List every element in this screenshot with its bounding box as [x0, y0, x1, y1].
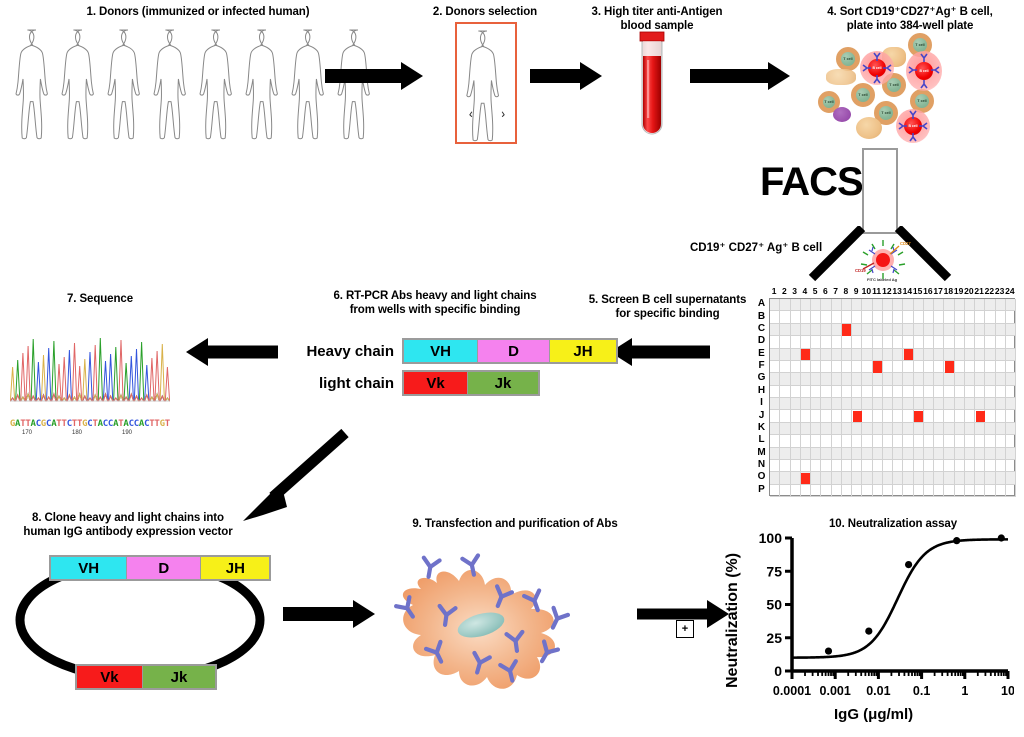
plate-well[interactable] — [934, 410, 944, 422]
plate-well[interactable] — [975, 448, 985, 460]
plate-well[interactable] — [883, 349, 893, 361]
plate-well[interactable] — [924, 423, 934, 435]
plate-well[interactable] — [924, 373, 934, 385]
plate-well[interactable] — [944, 460, 954, 472]
plate-well[interactable] — [1006, 423, 1016, 435]
plate-well[interactable] — [842, 460, 852, 472]
plate-well[interactable] — [975, 472, 985, 484]
plate-well[interactable] — [955, 373, 965, 385]
plate-well[interactable] — [873, 472, 883, 484]
plate-well[interactable] — [965, 373, 975, 385]
plate-well[interactable] — [944, 398, 954, 410]
plate-well[interactable] — [965, 435, 975, 447]
plate-well[interactable] — [821, 423, 831, 435]
plate-well[interactable] — [914, 336, 924, 348]
plate-well[interactable] — [1006, 410, 1016, 422]
plate-well[interactable] — [996, 336, 1006, 348]
plate-well[interactable] — [862, 386, 872, 398]
plate-well[interactable] — [832, 299, 842, 311]
plate-well[interactable] — [883, 336, 893, 348]
plate-well[interactable] — [1006, 460, 1016, 472]
plate-well[interactable] — [832, 423, 842, 435]
plate-well[interactable] — [903, 373, 913, 385]
plate-well[interactable] — [862, 472, 872, 484]
plate-well[interactable] — [770, 349, 780, 361]
plate-well[interactable] — [873, 460, 883, 472]
plate-well[interactable] — [791, 448, 801, 460]
plate-well[interactable] — [944, 299, 954, 311]
plate-well[interactable] — [780, 472, 790, 484]
plate-well[interactable] — [801, 423, 811, 435]
plate-well[interactable] — [821, 448, 831, 460]
plate-well[interactable] — [903, 311, 913, 323]
plate-well[interactable] — [924, 361, 934, 373]
plate-well[interactable] — [801, 373, 811, 385]
plate-well[interactable] — [944, 435, 954, 447]
plate-well[interactable] — [842, 448, 852, 460]
plate-well[interactable] — [975, 361, 985, 373]
plate-well[interactable] — [821, 435, 831, 447]
plate-well[interactable] — [985, 336, 995, 348]
plate-well[interactable] — [770, 460, 780, 472]
plate-well[interactable] — [862, 460, 872, 472]
plate-well[interactable] — [914, 349, 924, 361]
plate-well[interactable] — [965, 398, 975, 410]
plate-well[interactable] — [944, 311, 954, 323]
plate-well[interactable] — [955, 299, 965, 311]
plate-well[interactable] — [1006, 472, 1016, 484]
plate-well[interactable] — [832, 448, 842, 460]
plate-well[interactable] — [780, 460, 790, 472]
plate-well[interactable] — [811, 311, 821, 323]
plate-well[interactable] — [821, 299, 831, 311]
plate-well[interactable] — [924, 410, 934, 422]
plate-well[interactable] — [811, 373, 821, 385]
plate-well[interactable] — [985, 373, 995, 385]
plate-well[interactable] — [934, 460, 944, 472]
plate-well[interactable] — [1006, 398, 1016, 410]
plate-well[interactable] — [832, 386, 842, 398]
plate-well[interactable] — [842, 386, 852, 398]
plate-well[interactable] — [842, 410, 852, 422]
plate-well[interactable] — [862, 485, 872, 497]
plate-well[interactable] — [934, 299, 944, 311]
plate-well[interactable] — [955, 448, 965, 460]
plate-well[interactable] — [965, 423, 975, 435]
plate-well[interactable] — [965, 472, 975, 484]
plate-well[interactable] — [934, 485, 944, 497]
plate-well[interactable] — [770, 448, 780, 460]
plate-well[interactable] — [934, 472, 944, 484]
plate-well[interactable] — [791, 472, 801, 484]
plate-well[interactable] — [893, 410, 903, 422]
plate-well[interactable] — [821, 472, 831, 484]
plate-well[interactable] — [780, 448, 790, 460]
plate-well[interactable] — [944, 423, 954, 435]
plate-well[interactable] — [965, 361, 975, 373]
plate-well[interactable] — [852, 435, 862, 447]
plate-well[interactable] — [996, 448, 1006, 460]
plate-well[interactable] — [1006, 361, 1016, 373]
plate-well[interactable] — [873, 349, 883, 361]
plate-well[interactable] — [975, 336, 985, 348]
plate-well[interactable] — [791, 349, 801, 361]
plate-well[interactable] — [893, 386, 903, 398]
plate-well[interactable] — [770, 373, 780, 385]
plate-well[interactable] — [965, 299, 975, 311]
plate-well[interactable] — [955, 398, 965, 410]
plate-well[interactable] — [985, 311, 995, 323]
plate-well[interactable] — [893, 398, 903, 410]
plate-well[interactable] — [852, 361, 862, 373]
plate-well[interactable] — [893, 336, 903, 348]
plate-well[interactable] — [934, 373, 944, 385]
plate-well[interactable] — [883, 398, 893, 410]
plate-well[interactable] — [801, 460, 811, 472]
plate-well[interactable] — [821, 460, 831, 472]
plate-well[interactable] — [975, 373, 985, 385]
plate-well[interactable] — [883, 324, 893, 336]
plate-well[interactable] — [873, 386, 883, 398]
plate-well[interactable] — [944, 373, 954, 385]
plate-well[interactable] — [903, 460, 913, 472]
plate-well[interactable] — [852, 299, 862, 311]
plate-well[interactable] — [811, 299, 821, 311]
plate-well[interactable] — [801, 448, 811, 460]
plate-well[interactable] — [842, 485, 852, 497]
plate-well[interactable] — [944, 485, 954, 497]
plate-well[interactable] — [934, 349, 944, 361]
plate-well[interactable] — [780, 386, 790, 398]
plate-well[interactable] — [842, 311, 852, 323]
plate-well[interactable] — [955, 435, 965, 447]
plate-well-positive[interactable] — [976, 411, 985, 422]
plate-well[interactable] — [965, 386, 975, 398]
plate-well[interactable] — [914, 398, 924, 410]
plate-well-positive[interactable] — [914, 411, 923, 422]
plate-well[interactable] — [975, 398, 985, 410]
plate-well[interactable] — [791, 423, 801, 435]
plate-well[interactable] — [996, 460, 1006, 472]
plate-well[interactable] — [852, 386, 862, 398]
plate-well[interactable] — [955, 336, 965, 348]
plate-well[interactable] — [791, 410, 801, 422]
plate-well[interactable] — [975, 299, 985, 311]
plate-well[interactable] — [862, 448, 872, 460]
plate-well[interactable] — [780, 410, 790, 422]
plate-well[interactable] — [985, 361, 995, 373]
plate-well[interactable] — [903, 472, 913, 484]
plate-well[interactable] — [893, 472, 903, 484]
plate-well[interactable] — [780, 398, 790, 410]
plate-well[interactable] — [801, 435, 811, 447]
plate-well[interactable] — [770, 435, 780, 447]
plate-well[interactable] — [780, 373, 790, 385]
plate-well[interactable] — [862, 349, 872, 361]
plate-well[interactable] — [996, 361, 1006, 373]
plate-well[interactable] — [883, 448, 893, 460]
plate-well[interactable] — [955, 423, 965, 435]
plate-well[interactable] — [965, 460, 975, 472]
plate-well[interactable] — [873, 423, 883, 435]
plate-well[interactable] — [780, 336, 790, 348]
plate-well[interactable] — [955, 324, 965, 336]
plate-well[interactable] — [873, 336, 883, 348]
plate-well[interactable] — [883, 386, 893, 398]
plate-well[interactable] — [791, 361, 801, 373]
plate-well[interactable] — [842, 398, 852, 410]
plate-well[interactable] — [1006, 336, 1016, 348]
plate-well[interactable] — [996, 324, 1006, 336]
plate-well[interactable] — [955, 349, 965, 361]
plate-well[interactable] — [811, 485, 821, 497]
plate-well[interactable] — [770, 472, 780, 484]
plate-well[interactable] — [821, 373, 831, 385]
plate-well[interactable] — [903, 410, 913, 422]
plate-well[interactable] — [873, 410, 883, 422]
plate-well[interactable] — [780, 349, 790, 361]
plate-well[interactable] — [965, 324, 975, 336]
plate-well[interactable] — [832, 373, 842, 385]
plate-well[interactable] — [811, 398, 821, 410]
plate-well[interactable] — [924, 460, 934, 472]
plate-well[interactable] — [801, 398, 811, 410]
plate-well[interactable] — [821, 398, 831, 410]
plate-well[interactable] — [1006, 299, 1016, 311]
plate-well[interactable] — [842, 373, 852, 385]
plate-well[interactable] — [975, 324, 985, 336]
plate-well[interactable] — [924, 485, 934, 497]
plate-well[interactable] — [862, 324, 872, 336]
plate-well[interactable] — [873, 324, 883, 336]
plate-well[interactable] — [883, 485, 893, 497]
plate-well[interactable] — [924, 336, 934, 348]
plate-well-positive[interactable] — [945, 361, 954, 372]
plate-well[interactable] — [924, 435, 934, 447]
plate-well[interactable] — [862, 336, 872, 348]
plate-well[interactable] — [1006, 448, 1016, 460]
plate-well[interactable] — [914, 460, 924, 472]
plate-well[interactable] — [965, 410, 975, 422]
plate-well[interactable] — [996, 299, 1006, 311]
plate-well[interactable] — [862, 410, 872, 422]
plate-well[interactable] — [996, 373, 1006, 385]
plate-well[interactable] — [832, 485, 842, 497]
plate-well[interactable] — [832, 336, 842, 348]
plate-well-positive[interactable] — [853, 411, 862, 422]
plate-well[interactable] — [893, 435, 903, 447]
plate-well[interactable] — [780, 423, 790, 435]
plate-well[interactable] — [914, 423, 924, 435]
plate-well[interactable] — [811, 336, 821, 348]
plate-well[interactable] — [801, 336, 811, 348]
plate-well[interactable] — [934, 324, 944, 336]
plate-well[interactable] — [821, 485, 831, 497]
plate-well[interactable] — [791, 460, 801, 472]
plate-well[interactable] — [996, 311, 1006, 323]
plate-well[interactable] — [791, 299, 801, 311]
plate-well[interactable] — [873, 398, 883, 410]
plate-well[interactable] — [934, 398, 944, 410]
plate-well[interactable] — [842, 472, 852, 484]
plate-well[interactable] — [832, 349, 842, 361]
plate-well[interactable] — [883, 460, 893, 472]
plate-well[interactable] — [862, 435, 872, 447]
plate-well[interactable] — [903, 336, 913, 348]
plate-well[interactable] — [975, 311, 985, 323]
plate-well[interactable] — [852, 485, 862, 497]
plate-well[interactable] — [852, 472, 862, 484]
plate-well[interactable] — [852, 336, 862, 348]
plate-well[interactable] — [821, 324, 831, 336]
plate-well[interactable] — [893, 423, 903, 435]
plate-well[interactable] — [996, 472, 1006, 484]
plate-well[interactable] — [770, 324, 780, 336]
plate-well[interactable] — [791, 311, 801, 323]
plate-well[interactable] — [852, 311, 862, 323]
plate-well[interactable] — [791, 386, 801, 398]
plate-well-positive[interactable] — [904, 349, 913, 360]
plate-well[interactable] — [944, 324, 954, 336]
plate-well[interactable] — [934, 361, 944, 373]
plate-well[interactable] — [944, 472, 954, 484]
plate-well-positive[interactable] — [801, 473, 810, 484]
plate-well[interactable] — [862, 361, 872, 373]
plate-well[interactable] — [996, 386, 1006, 398]
plate-well[interactable] — [1006, 485, 1016, 497]
plate-well[interactable] — [924, 299, 934, 311]
plate-well[interactable] — [791, 435, 801, 447]
plate-well-positive[interactable] — [842, 324, 851, 335]
plate-well[interactable] — [821, 361, 831, 373]
plate-well[interactable] — [821, 410, 831, 422]
plate-well[interactable] — [903, 448, 913, 460]
plate-well[interactable] — [780, 324, 790, 336]
plate-well[interactable] — [985, 324, 995, 336]
plate-well[interactable] — [801, 299, 811, 311]
plate-well[interactable] — [985, 460, 995, 472]
plate-well[interactable] — [852, 373, 862, 385]
plate-well[interactable] — [832, 435, 842, 447]
plate-well[interactable] — [873, 311, 883, 323]
plate-well[interactable] — [791, 324, 801, 336]
plate-well[interactable] — [883, 472, 893, 484]
plate-well[interactable] — [893, 324, 903, 336]
plate-well[interactable] — [832, 361, 842, 373]
plate-well[interactable] — [780, 311, 790, 323]
plate-well[interactable] — [944, 410, 954, 422]
plate-well[interactable] — [862, 398, 872, 410]
plate-well[interactable] — [811, 435, 821, 447]
plate-well[interactable] — [791, 373, 801, 385]
plate-well[interactable] — [934, 448, 944, 460]
plate-well[interactable] — [934, 386, 944, 398]
plate-well[interactable] — [821, 349, 831, 361]
plate-well[interactable] — [780, 299, 790, 311]
plate-well[interactable] — [862, 423, 872, 435]
plate-well[interactable] — [903, 299, 913, 311]
plate-well[interactable] — [975, 349, 985, 361]
plate-well[interactable] — [791, 485, 801, 497]
plate-well[interactable] — [975, 485, 985, 497]
plate-well[interactable] — [914, 386, 924, 398]
plate-well[interactable] — [965, 485, 975, 497]
plate-well[interactable] — [893, 361, 903, 373]
plate-well[interactable] — [996, 423, 1006, 435]
plate-well[interactable] — [955, 472, 965, 484]
plate-well[interactable] — [985, 472, 995, 484]
plate-well[interactable] — [1006, 324, 1016, 336]
plate-well[interactable] — [934, 336, 944, 348]
plate-well[interactable] — [893, 311, 903, 323]
plate-well[interactable] — [842, 423, 852, 435]
plate-well[interactable] — [770, 398, 780, 410]
plate-well[interactable] — [791, 336, 801, 348]
plate-well[interactable] — [996, 398, 1006, 410]
plate-well[interactable] — [832, 410, 842, 422]
plate-well[interactable] — [985, 398, 995, 410]
plate-well[interactable] — [985, 349, 995, 361]
plate-well[interactable] — [893, 460, 903, 472]
plate-well[interactable] — [914, 311, 924, 323]
plate-well[interactable] — [842, 336, 852, 348]
plate-well[interactable] — [903, 361, 913, 373]
plate-well[interactable] — [770, 299, 780, 311]
plate-well[interactable] — [965, 448, 975, 460]
plate-well[interactable] — [1006, 386, 1016, 398]
plate-well[interactable] — [924, 311, 934, 323]
plate-well[interactable] — [883, 435, 893, 447]
plate-well[interactable] — [873, 448, 883, 460]
plate-well[interactable] — [801, 311, 811, 323]
plate-well[interactable] — [903, 386, 913, 398]
plate-well[interactable] — [924, 472, 934, 484]
plate-well[interactable] — [996, 435, 1006, 447]
plate-well[interactable] — [832, 324, 842, 336]
plate-well[interactable] — [996, 349, 1006, 361]
plate-well[interactable] — [975, 435, 985, 447]
plate-well[interactable] — [842, 361, 852, 373]
plate-well[interactable] — [914, 435, 924, 447]
plate-well[interactable] — [924, 448, 934, 460]
plate-well[interactable] — [965, 349, 975, 361]
plate-well[interactable] — [832, 398, 842, 410]
plate-well[interactable] — [873, 435, 883, 447]
plate-well[interactable] — [780, 361, 790, 373]
plate-well[interactable] — [791, 398, 801, 410]
plate-well[interactable] — [770, 423, 780, 435]
plate-well[interactable] — [934, 423, 944, 435]
plate-well[interactable] — [955, 361, 965, 373]
plate-well[interactable] — [903, 324, 913, 336]
plate-well[interactable] — [893, 485, 903, 497]
plate-well[interactable] — [985, 435, 995, 447]
plate-well[interactable] — [811, 324, 821, 336]
plate-well[interactable] — [821, 336, 831, 348]
plate-well[interactable] — [955, 460, 965, 472]
plate-well[interactable] — [944, 336, 954, 348]
plate-well[interactable] — [893, 299, 903, 311]
plate-well[interactable] — [832, 472, 842, 484]
plate-well[interactable] — [985, 410, 995, 422]
plate-well[interactable] — [852, 398, 862, 410]
plate-well[interactable] — [975, 423, 985, 435]
plate-well[interactable] — [996, 485, 1006, 497]
plate-well[interactable] — [811, 386, 821, 398]
plate-well[interactable] — [1006, 349, 1016, 361]
plate-well[interactable] — [770, 336, 780, 348]
plate-well[interactable] — [780, 485, 790, 497]
